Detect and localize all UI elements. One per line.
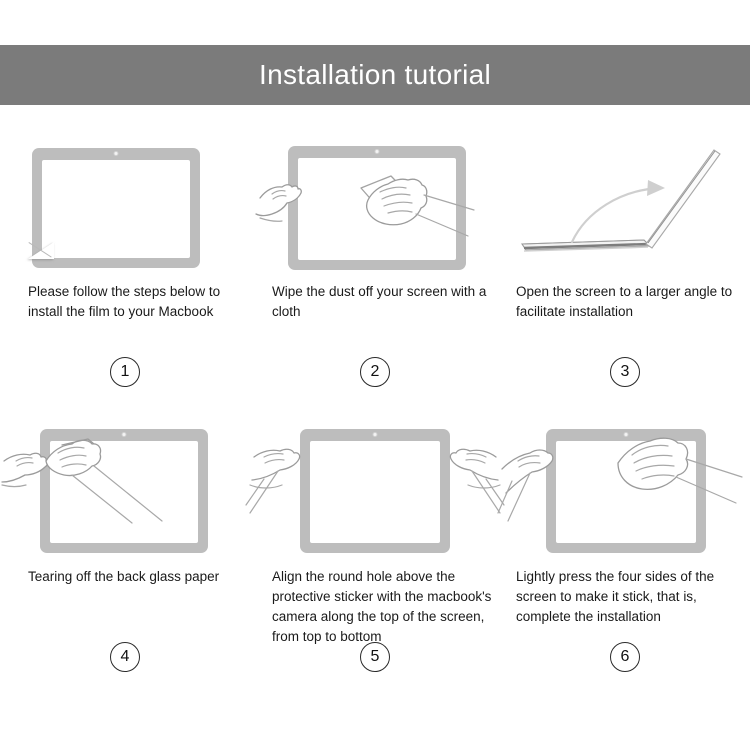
step-cell-3: Open the screen to a larger angle to fac… bbox=[500, 120, 750, 405]
right-hand-icon-5 bbox=[450, 449, 504, 513]
left-hand-icon-6 bbox=[498, 450, 553, 521]
step-caption-2: Wipe the dust off your screen with a clo… bbox=[272, 282, 492, 322]
step-caption-4: Tearing off the back glass paper bbox=[28, 567, 240, 587]
tearing-hand-icon bbox=[46, 439, 162, 523]
step-cell-1: Please follow the steps below to install… bbox=[0, 120, 250, 405]
rotation-arrow-icon bbox=[572, 180, 665, 242]
step-number-badge-2: 2 bbox=[360, 357, 390, 387]
step-caption-6: Lightly press the four sides of the scre… bbox=[516, 567, 742, 627]
tutorial-page: Installation tutorial Please follow the … bbox=[0, 0, 750, 750]
step-number-badge-5: 5 bbox=[360, 642, 390, 672]
illustration-hand-tearing-back-paper bbox=[10, 417, 240, 557]
illustration-tablet-with-peeling-film-corner bbox=[10, 132, 240, 272]
laptop-base-icon bbox=[522, 240, 650, 251]
left-hand-icon-2 bbox=[256, 185, 301, 222]
step-caption-5: Align the round hole above the protectiv… bbox=[272, 567, 492, 647]
right-hand-icon-6 bbox=[618, 438, 742, 503]
aligning-hands-drawing bbox=[260, 417, 490, 557]
illustration-two-hands-aligning-film bbox=[260, 417, 490, 557]
step-caption-3: Open the screen to a larger angle to fac… bbox=[516, 282, 742, 322]
step-cell-6: Lightly press the four sides of the scre… bbox=[500, 405, 750, 690]
step-number-badge-4: 4 bbox=[110, 642, 140, 672]
left-hand-icon-4 bbox=[2, 453, 47, 486]
step-number-badge-3: 3 bbox=[610, 357, 640, 387]
device-screen-1 bbox=[32, 148, 200, 268]
step-cell-2: Wipe the dust off your screen with a clo… bbox=[250, 120, 500, 405]
step-caption-1: Please follow the steps below to install… bbox=[28, 282, 240, 322]
step-number-badge-1: 1 bbox=[110, 357, 140, 387]
screen-surface-1 bbox=[42, 160, 190, 258]
illustration-laptop-side-view-opening-arrow bbox=[510, 132, 740, 272]
pressing-hands-drawing bbox=[510, 417, 740, 557]
illustration-hands-pressing-screen-edges bbox=[510, 417, 740, 557]
page-title: Installation tutorial bbox=[259, 61, 491, 89]
tearing-hand-drawing bbox=[10, 417, 240, 557]
step-cell-4: Tearing off the back glass paper 4 bbox=[0, 405, 250, 690]
hands-and-cloth-drawing-2 bbox=[260, 132, 490, 272]
step-number-badge-6: 6 bbox=[610, 642, 640, 672]
steps-grid: Please follow the steps below to install… bbox=[0, 120, 750, 720]
laptop-lid-icon bbox=[646, 150, 720, 248]
right-hand-icon-2 bbox=[367, 179, 474, 236]
header-band: Installation tutorial bbox=[0, 45, 750, 105]
step-cell-5: Align the round hole above the protectiv… bbox=[250, 405, 500, 690]
illustration-hand-wiping-screen-with-cloth bbox=[260, 132, 490, 272]
left-hand-icon-5 bbox=[246, 449, 300, 513]
laptop-side-view-drawing bbox=[510, 132, 740, 272]
camera-dot-icon-1 bbox=[114, 151, 119, 156]
